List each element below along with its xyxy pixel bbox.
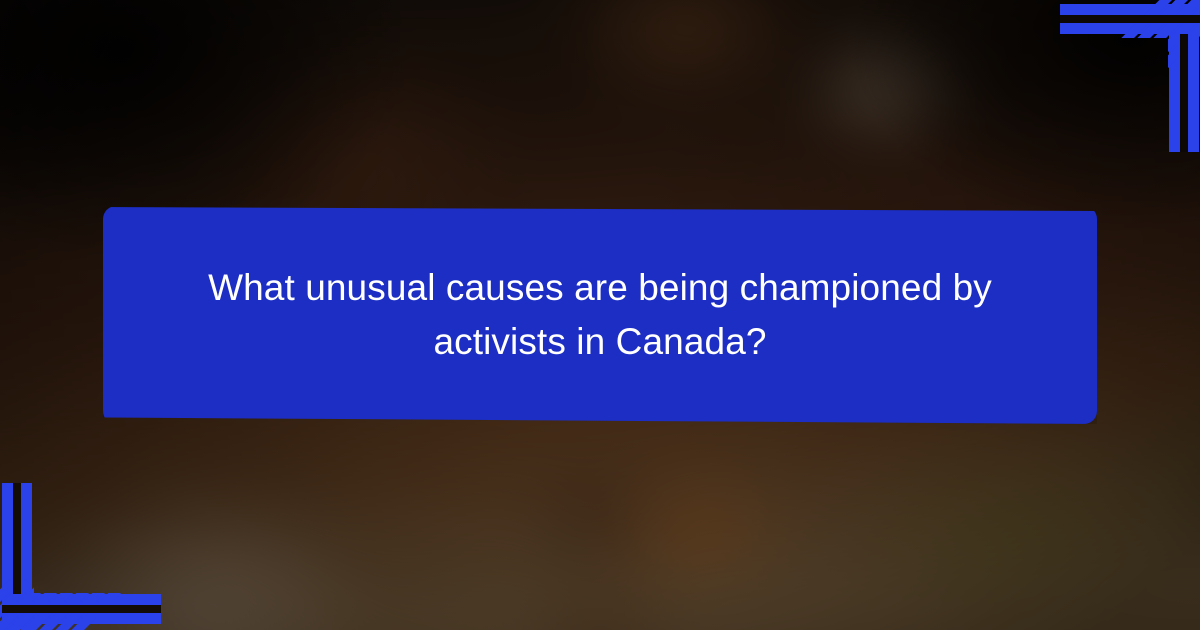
social-card: What unusual causes are being championed…: [0, 0, 1200, 630]
corner-decoration-bottom-left: [0, 475, 162, 630]
corner-decoration-top-right: [1040, 0, 1200, 152]
question-banner: What unusual causes are being championed…: [103, 206, 1097, 424]
question-banner-content: What unusual causes are being championed…: [103, 206, 1097, 424]
question-headline: What unusual causes are being championed…: [145, 261, 1055, 368]
